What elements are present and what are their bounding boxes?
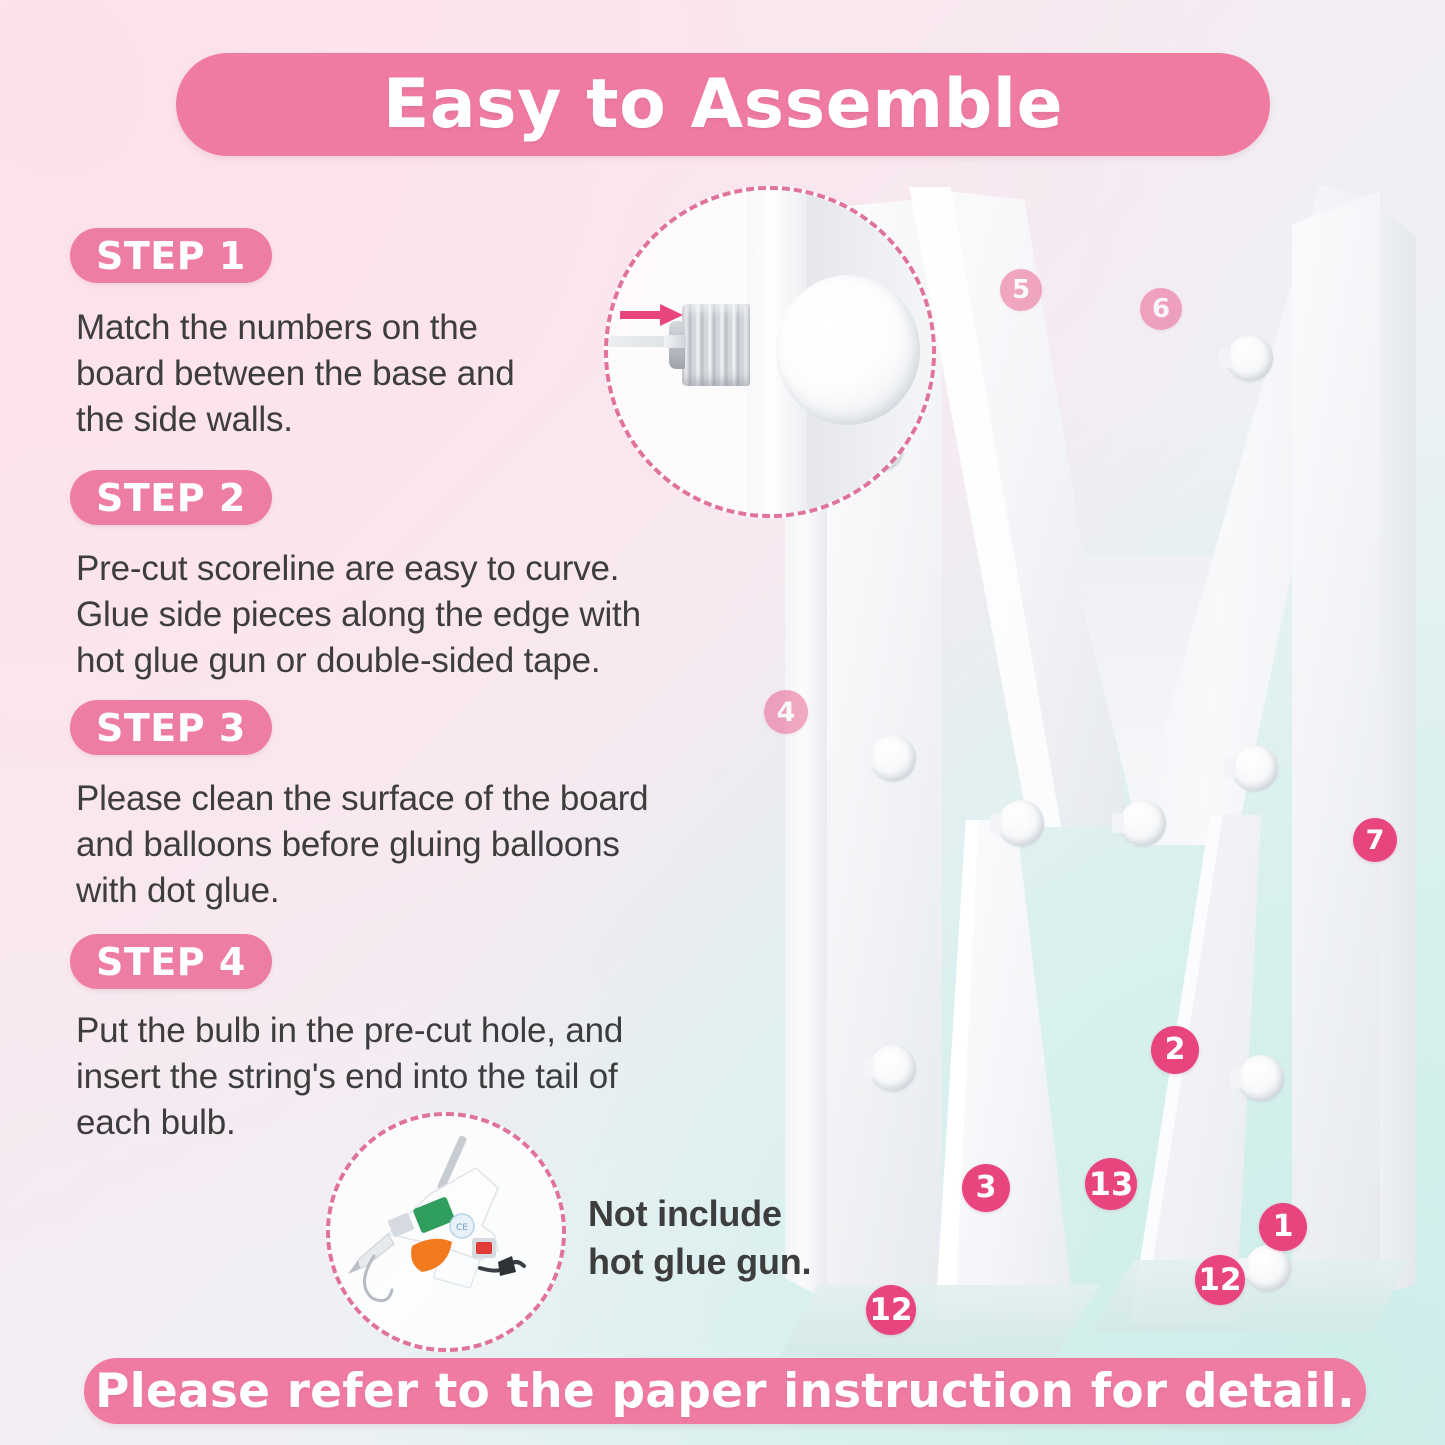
glue-gun-note: Not include hot glue gun. bbox=[588, 1190, 918, 1286]
m-right-stem-face bbox=[1292, 191, 1380, 1301]
step-label-1: STEP 1 bbox=[96, 237, 246, 275]
step-badge-3: STEP 3 bbox=[70, 700, 272, 755]
glue-gun-callout: CE bbox=[326, 1112, 566, 1352]
bulb-hole bbox=[1238, 1055, 1284, 1101]
m-base-plate-left bbox=[780, 1285, 1100, 1357]
bulb-insertion-diagram bbox=[608, 190, 932, 514]
step-badge-1: STEP 1 bbox=[70, 228, 272, 283]
part-number-badge-6: 6 bbox=[1140, 288, 1182, 330]
bulb-detail-callout bbox=[604, 186, 936, 518]
step-label-2: STEP 2 bbox=[96, 479, 246, 517]
bulb-hole bbox=[870, 1045, 916, 1091]
bulb-hole bbox=[870, 735, 916, 781]
page-title: Easy to Assemble bbox=[383, 71, 1063, 139]
m-right-side-wall bbox=[1380, 205, 1416, 1295]
title-banner: Easy to Assemble bbox=[176, 53, 1270, 156]
svg-text:CE: CE bbox=[456, 1223, 468, 1233]
step-label-3: STEP 3 bbox=[96, 709, 246, 747]
part-number-badge-13: 13 bbox=[1085, 1158, 1137, 1210]
step-badge-2: STEP 2 bbox=[70, 470, 272, 525]
part-number-badge-7: 7 bbox=[1353, 818, 1397, 862]
step-badge-4: STEP 4 bbox=[70, 934, 272, 989]
footer-text: Please refer to the paper instruction fo… bbox=[95, 1368, 1355, 1415]
step-body-1: Match the numbers on the board between t… bbox=[76, 305, 636, 443]
bulb-hole bbox=[1245, 1245, 1291, 1291]
bulb-hole bbox=[1232, 745, 1278, 791]
bulb-screw-base bbox=[682, 304, 750, 386]
step-label-4: STEP 4 bbox=[96, 943, 246, 981]
bulb-hole bbox=[1120, 800, 1166, 846]
bulb-hole bbox=[1227, 335, 1273, 381]
string-wire-tip bbox=[664, 335, 686, 348]
part-number-badge-5: 5 bbox=[1000, 269, 1042, 311]
part-number-badge-12: 12 bbox=[1195, 1255, 1245, 1305]
part-number-badge-3: 3 bbox=[962, 1164, 1010, 1212]
part-number-badge-1: 1 bbox=[1259, 1203, 1307, 1251]
footer-banner: Please refer to the paper instruction fo… bbox=[84, 1358, 1366, 1424]
step-body-2: Pre-cut scoreline are easy to curve. Glu… bbox=[76, 546, 756, 684]
step-body-3: Please clean the surface of the board an… bbox=[76, 776, 756, 914]
part-number-badge-2: 2 bbox=[1151, 1026, 1199, 1074]
light-bulb-icon bbox=[776, 275, 920, 425]
part-number-badge-12: 12 bbox=[866, 1285, 916, 1335]
infographic-page: Easy to Assemble STEP 1 Match the number… bbox=[0, 0, 1445, 1445]
part-number-badge-4: 4 bbox=[764, 690, 808, 734]
bulb-hole bbox=[998, 800, 1044, 846]
hot-glue-gun-icon: CE bbox=[330, 1116, 562, 1348]
